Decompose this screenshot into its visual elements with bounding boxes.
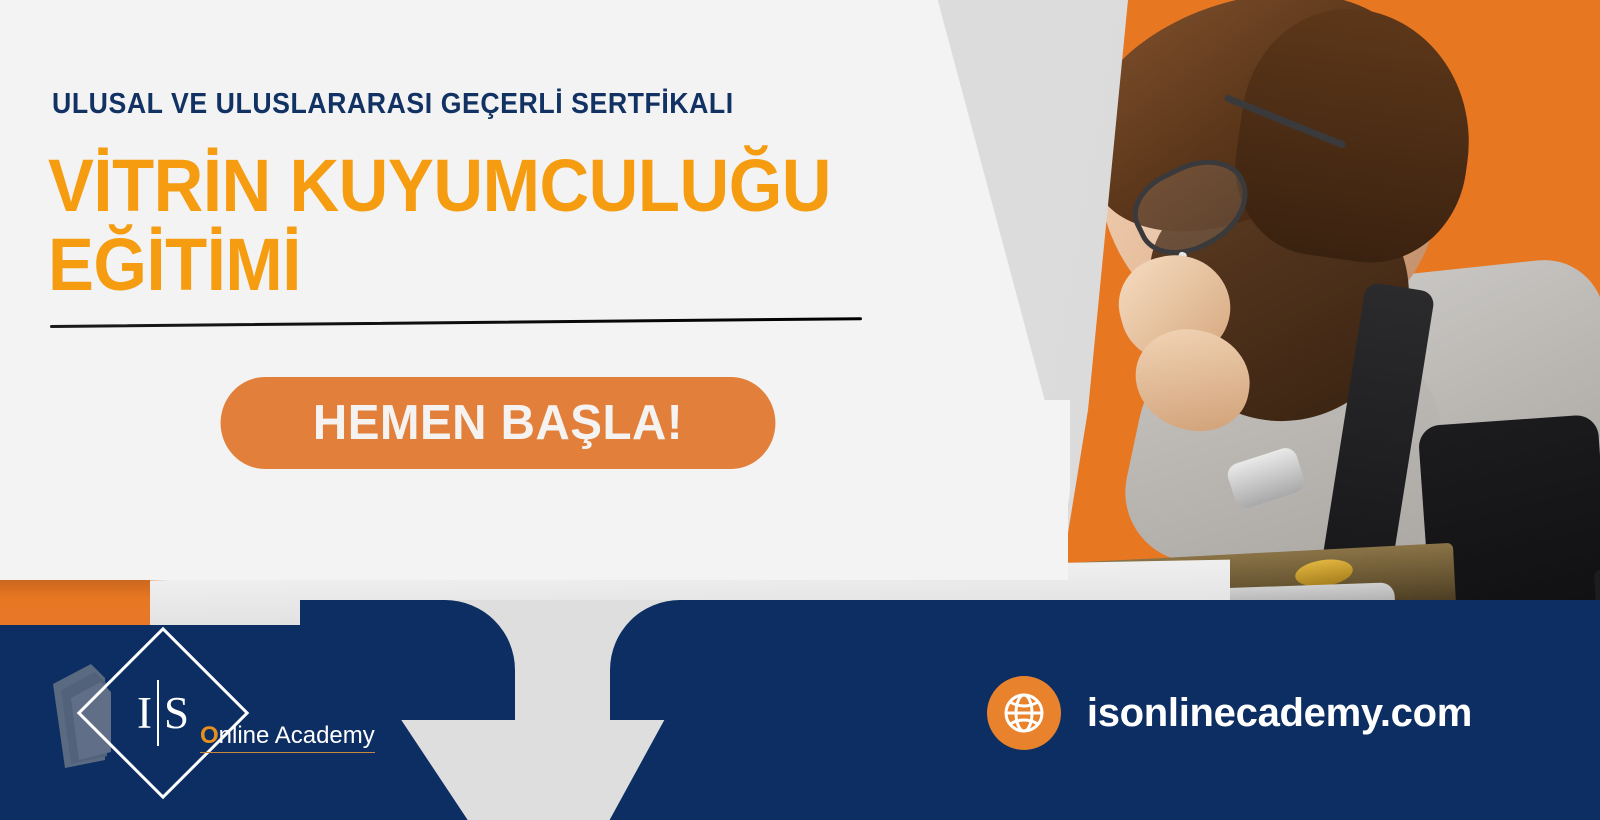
monogram-letter-i: I [137, 687, 152, 739]
monogram-letter-s: S [164, 687, 189, 739]
logo-wordmark: Online Academy [200, 722, 375, 753]
page-title: VİTRİN KUYUMCULUĞU EĞİTİMİ [48, 150, 866, 301]
eyebrow-text: ULUSAL VE ULUSLARARASI GEÇERLİ SERTFİKAL… [52, 88, 734, 121]
website-link[interactable]: isonlinecademy.com [987, 676, 1472, 750]
wordmark-rest: nline Academy [219, 722, 375, 749]
globe-icon [987, 676, 1061, 750]
website-url-text: isonlinecademy.com [1087, 691, 1472, 736]
headline-divider [50, 317, 862, 328]
headline-line-2: EĞİTİMİ [48, 229, 866, 302]
brand-logo[interactable]: I S Online Academy [40, 648, 370, 778]
promo-banner: ULUSAL VE ULUSLARARASI GEÇERLİ SERTFİKAL… [0, 0, 1600, 820]
headline-block: ULUSAL VE ULUSLARARASI GEÇERLİ SERTFİKAL… [0, 0, 1075, 580]
monogram: I S [102, 652, 224, 774]
headline-line-1: VİTRİN KUYUMCULUĞU [48, 144, 831, 227]
wordmark-initial: O [200, 722, 219, 749]
start-now-button[interactable]: HEMEN BAŞLA! [221, 377, 776, 469]
monogram-divider [157, 680, 159, 746]
